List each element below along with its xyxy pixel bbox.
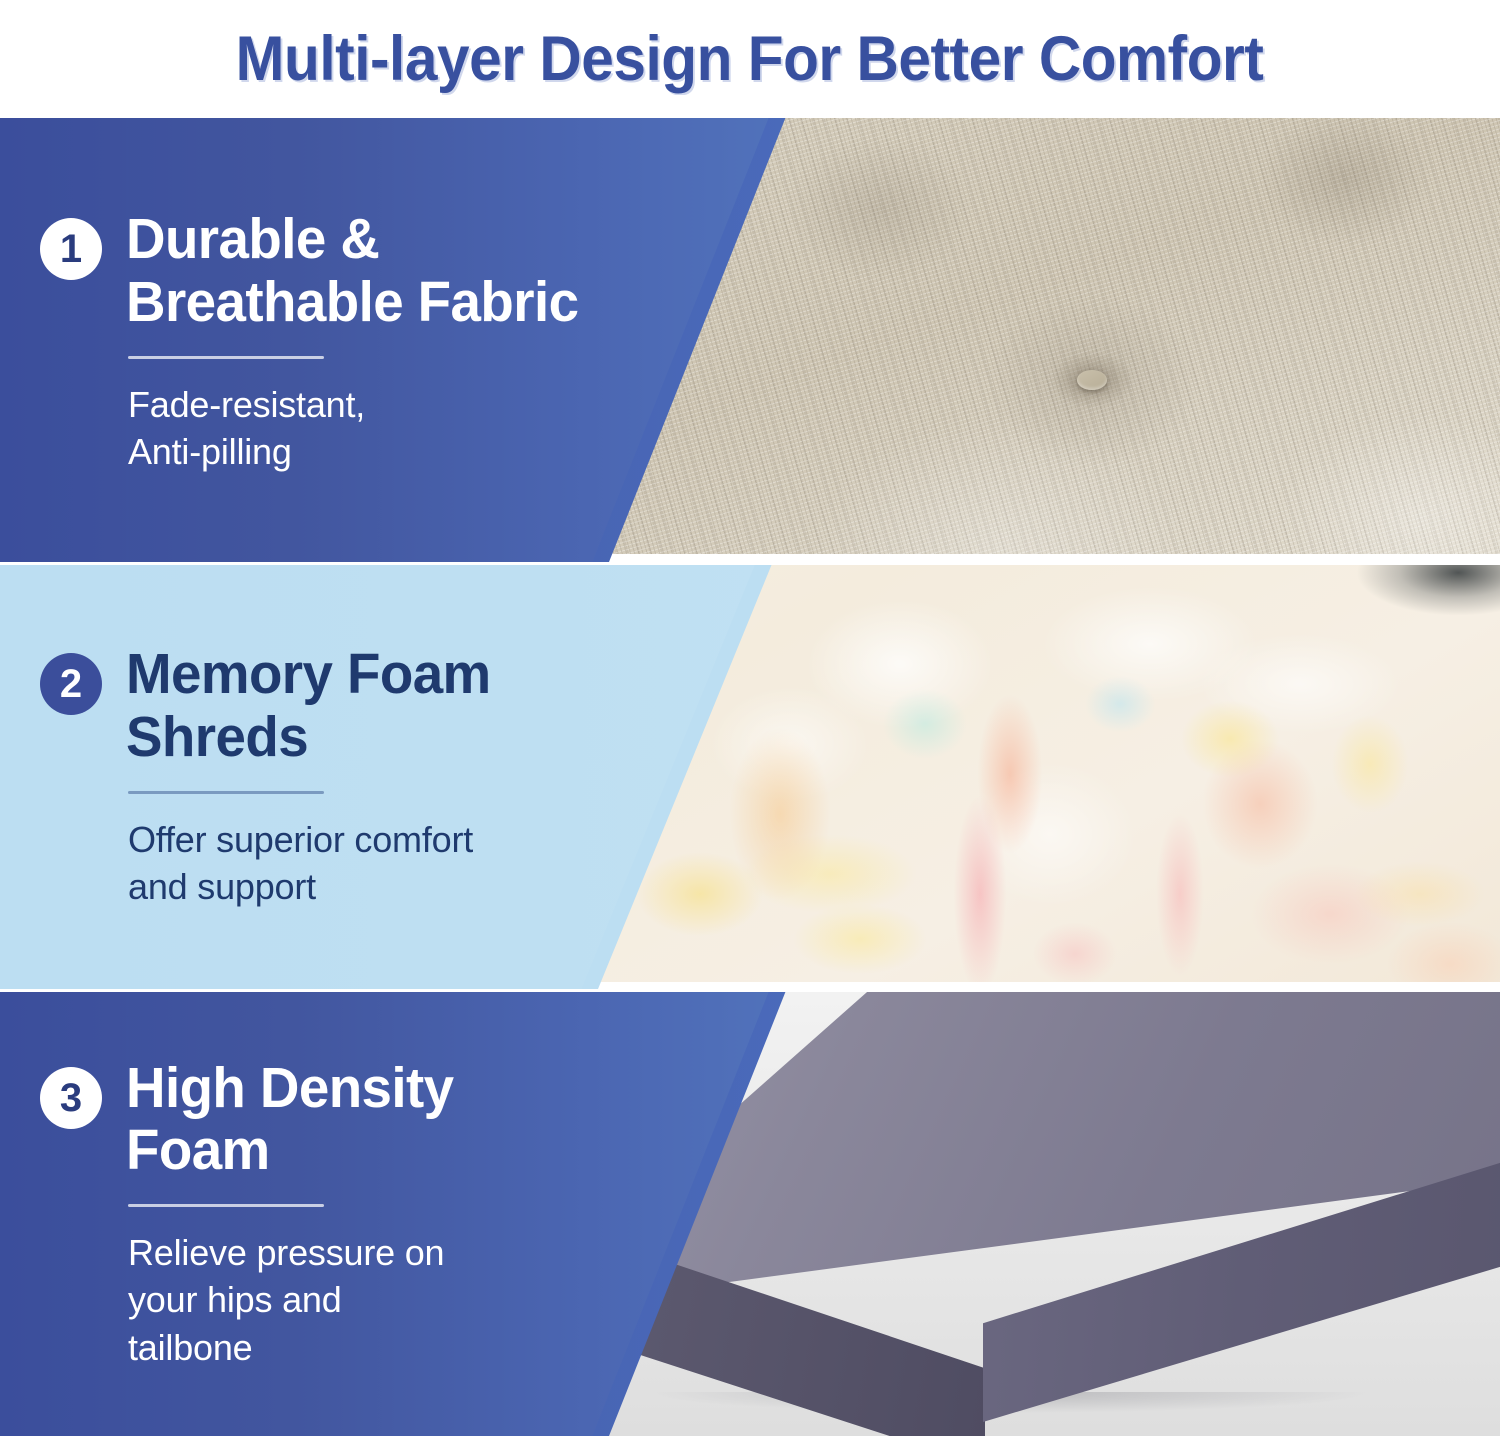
panel-2-content: 2 Memory Foam Shreds Offer superior comf… [0, 564, 700, 990]
panel-3-content: 3 High Density Foam Relieve pressure on … [0, 992, 700, 1436]
panel-seam-2-3 [0, 989, 1500, 992]
panel-2-divider [128, 791, 324, 794]
panel-1-content: 1 Durable & Breathable Fabric Fade-resis… [0, 118, 700, 562]
fabric-tuft-button [1077, 370, 1107, 390]
panel-3-subtitle: Relieve pressure on your hips and tailbo… [128, 1229, 700, 1372]
photo-dark-corner [1310, 564, 1500, 636]
panel-2-subtitle: Offer superior comfort and support [128, 816, 700, 911]
panel-1-head-row: 1 Durable & Breathable Fabric [40, 208, 700, 333]
panel-1-heading: Durable & Breathable Fabric [126, 208, 578, 333]
panel-3-divider [128, 1204, 324, 1207]
panel-seam-1-2 [0, 562, 1500, 565]
step-badge-1: 1 [40, 218, 102, 280]
panel-3-heading: High Density Foam [126, 1057, 454, 1182]
panel-2-head-row: 2 Memory Foam Shreds [40, 643, 700, 768]
panel-3-head-row: 3 High Density Foam [40, 1057, 700, 1182]
feature-panel-3: 3 High Density Foam Relieve pressure on … [0, 992, 1500, 1436]
step-badge-3: 3 [40, 1067, 102, 1129]
page-title: Multi-layer Design For Better Comfort [236, 23, 1264, 95]
step-badge-2: 2 [40, 653, 102, 715]
panel-1-divider [128, 356, 324, 359]
panel-1-subtitle: Fade-resistant, Anti-pilling [128, 381, 700, 476]
feature-panel-1: 1 Durable & Breathable Fabric Fade-resis… [0, 118, 1500, 562]
feature-panel-2: 2 Memory Foam Shreds Offer superior comf… [0, 564, 1500, 990]
panel-2-heading: Memory Foam Shreds [126, 643, 491, 768]
page-title-bar: Multi-layer Design For Better Comfort [0, 0, 1500, 118]
